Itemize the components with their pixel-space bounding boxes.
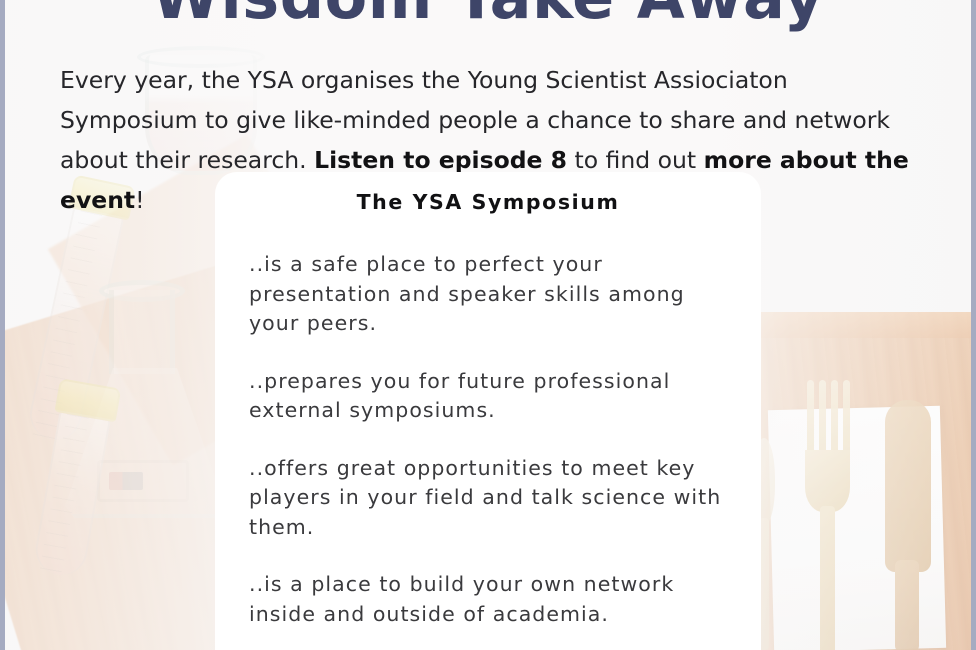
poster-canvas: Wisdom Take Away Every year, the YSA org…	[0, 0, 976, 650]
list-item: ..is a safe place to perfect your presen…	[249, 250, 727, 339]
poster-content: Wisdom Take Away Every year, the YSA org…	[5, 0, 971, 650]
intro-text-part3: !	[135, 186, 144, 214]
card-heading: The YSA Symposium	[249, 190, 727, 214]
card-bullet-list: ..is a safe place to perfect your presen…	[249, 250, 727, 650]
list-item: ..prepares you for future professional e…	[249, 367, 727, 426]
intro-bold-episode: Listen to episode 8	[314, 146, 567, 174]
intro-text-part2: to find out	[567, 146, 704, 174]
page-title: Wisdom Take Away	[5, 0, 971, 33]
list-item: ..offers great opportunities to meet key…	[249, 454, 727, 543]
list-item: ..is a place to build your own network i…	[249, 570, 727, 629]
symposium-card: The YSA Symposium ..is a safe place to p…	[215, 172, 761, 650]
